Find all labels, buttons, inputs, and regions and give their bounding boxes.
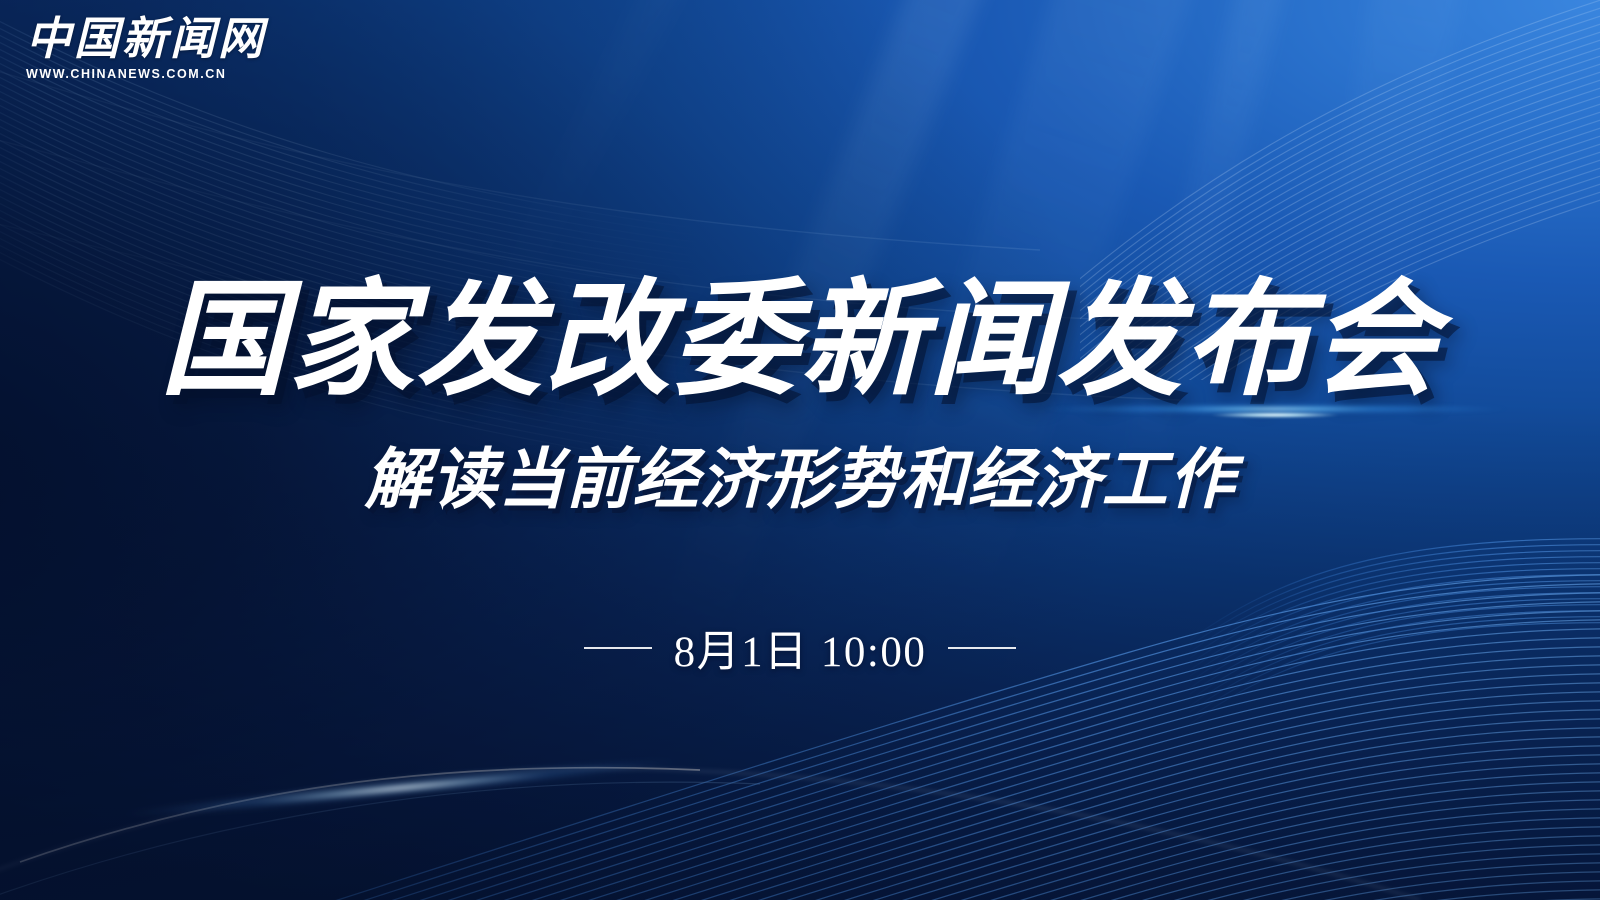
- page-title: 国家发改委新闻发布会: [0, 272, 1600, 408]
- schedule-datetime: 8月1日 10:00: [674, 617, 927, 679]
- news-event-poster: 中国新闻网 WWW.CHINANEWS.COM.CN 国家发改委新闻发布会 解读…: [0, 0, 1600, 900]
- logo-url: WWW.CHINANEWS.COM.CN: [26, 67, 256, 81]
- chinanews-logo[interactable]: 中国新闻网 WWW.CHINANEWS.COM.CN: [26, 16, 256, 81]
- page-subtitle: 解读当前经济形势和经济工作: [0, 443, 1600, 516]
- logo-wordmark: 中国新闻网: [26, 16, 256, 63]
- rule-left: [584, 647, 652, 649]
- rule-right: [948, 647, 1016, 649]
- schedule-row: 8月1日 10:00: [0, 617, 1600, 679]
